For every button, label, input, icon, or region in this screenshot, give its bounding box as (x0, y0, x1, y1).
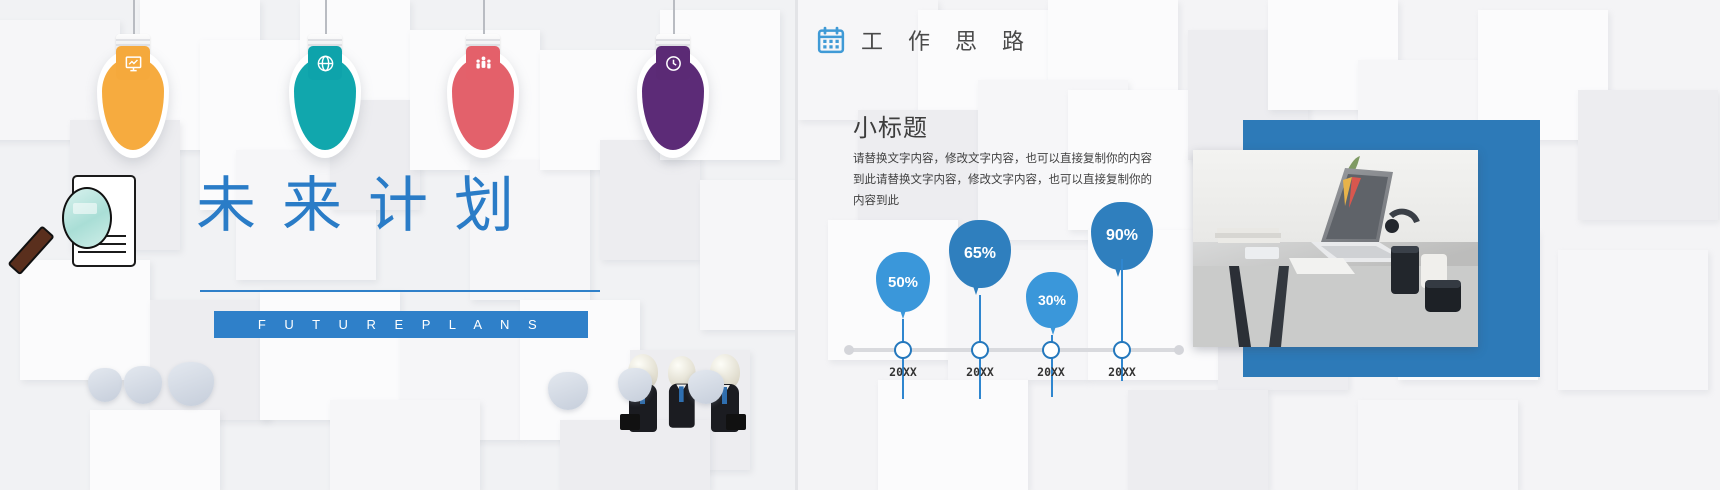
bulb-wire (325, 0, 327, 38)
calendar-icon (816, 25, 846, 55)
title-divider (200, 290, 600, 292)
slide-root: 未来计划 F U T U R E P L A N S (0, 0, 1720, 490)
bulb-wire (673, 0, 675, 38)
balloon-stem-4 (1121, 259, 1123, 381)
team-people-icon (466, 46, 500, 80)
timeline-node-1[interactable] (894, 341, 912, 359)
businessmen-figures (628, 258, 776, 356)
balloon-timeline-chart: 50% 20XX 65% 20XX 30% 20XX 90% (838, 200, 1238, 390)
presentation-chart-icon (116, 46, 150, 80)
timeline-node-3[interactable] (1042, 341, 1060, 359)
page-subtitle-en: F U T U R E P L A N S (214, 311, 588, 338)
bulb-wire (133, 0, 135, 38)
photo-frame (1243, 120, 1540, 377)
bulb-wire (483, 0, 485, 38)
content-subtitle: 小标题 (853, 108, 928, 143)
globe-icon (308, 46, 342, 80)
clock-icon (656, 46, 690, 80)
section-header: 工 作 思 路 (816, 24, 1033, 56)
right-content-pane: 工 作 思 路 小标题 请替换文字内容，修改文字内容，也可以直接复制你的内容到此… (795, 0, 1720, 490)
timeline-node-2[interactable] (971, 341, 989, 359)
page-title: 未来计划 (196, 176, 540, 236)
timeline-label-1: 20XX (881, 365, 925, 379)
balloon-value-1: 50% (876, 252, 930, 312)
timeline-axis-cap-right (1174, 345, 1184, 355)
balloon-value-2: 65% (949, 220, 1011, 288)
balloon-stem-1 (902, 319, 904, 399)
timeline-label-4: 20XX (1100, 365, 1144, 379)
timeline-label-3: 20XX (1029, 365, 1073, 379)
laptop-desk-photo (1193, 150, 1478, 347)
timeline-label-2: 20XX (958, 365, 1002, 379)
timeline-axis-cap-left (844, 345, 854, 355)
balloon-value-3: 30% (1026, 272, 1078, 328)
timeline-node-4[interactable] (1113, 341, 1131, 359)
magnifier-document-icon (58, 175, 134, 267)
section-header-title: 工 作 思 路 (861, 24, 1033, 56)
left-title-pane: 未来计划 F U T U R E P L A N S (0, 0, 795, 490)
